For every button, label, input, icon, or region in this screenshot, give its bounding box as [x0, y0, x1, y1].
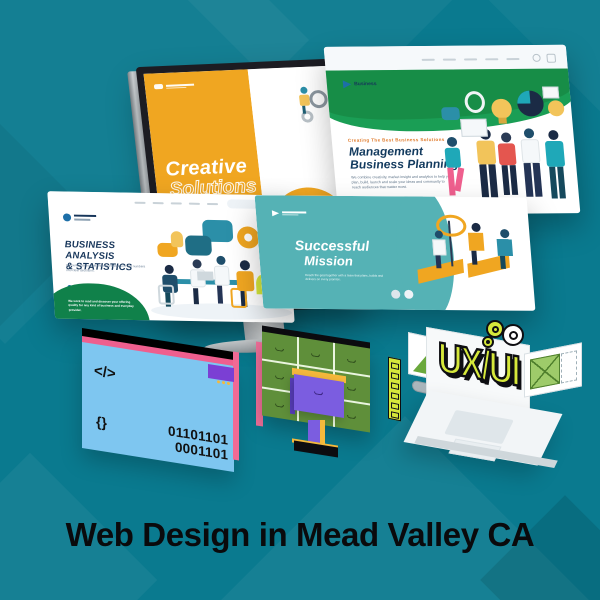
drawer-handle[interactable]	[275, 348, 284, 352]
mission-illustration	[406, 200, 535, 306]
code-editor-window-mockup: </> {} 01101101 0001101	[82, 352, 234, 460]
chat-bubble-icon	[441, 107, 460, 120]
filing-cabinet-mockup	[256, 334, 376, 464]
brand-logo-icon: Business	[343, 79, 396, 88]
drawer-handle[interactable]	[347, 359, 356, 363]
drawer-handle[interactable]	[347, 387, 356, 391]
mission-body: Reach the goal together with a team that…	[305, 273, 384, 282]
person-figure	[495, 229, 516, 269]
team-illustration	[433, 84, 577, 206]
mission-title-line1: Successful	[294, 237, 370, 254]
mbp-kicker: Creating The Best Business Solutions	[348, 137, 445, 143]
wireframe-card	[524, 342, 582, 397]
person-figure	[298, 87, 311, 113]
open-drawer[interactable]	[294, 374, 344, 418]
gear-icon	[308, 90, 328, 109]
toolbar-palette[interactable]	[388, 357, 401, 422]
badge-icon	[547, 100, 565, 116]
menu-icon[interactable]	[546, 54, 556, 63]
chat-bubble-icon	[185, 235, 212, 255]
drawer-handle[interactable]	[275, 404, 284, 408]
drawer-handle[interactable]	[347, 415, 356, 419]
bulb-icon	[491, 99, 513, 125]
brand-logo-label: Business	[354, 81, 377, 87]
poster-canvas: Creative Solutions Digital Business Cons…	[0, 0, 600, 600]
chair-icon	[158, 285, 175, 305]
gear-icon	[482, 336, 494, 348]
bas-blob-text: We work to read and discover your offeri…	[68, 299, 135, 313]
brand-logo-icon	[63, 213, 102, 222]
person-figure	[188, 259, 209, 305]
bulb-icon	[170, 231, 183, 247]
drawer-handle[interactable]	[311, 353, 320, 357]
window-control-dots[interactable]	[215, 370, 230, 390]
cabinet-foot	[294, 441, 338, 458]
drawer-handle[interactable]	[314, 391, 323, 395]
person-figure	[430, 230, 449, 268]
laptop-icon	[197, 271, 214, 280]
successful-mission-mockup: Successful Mission Reach the goal togeth…	[255, 195, 536, 311]
code-brace-icon: {}	[96, 413, 107, 431]
mission-pagination-dots[interactable]	[391, 286, 415, 304]
chart-icon	[460, 119, 488, 137]
layout-placeholder-icon	[561, 350, 577, 383]
pie-chart-slice	[516, 91, 530, 104]
gear-inner	[244, 233, 253, 241]
image-placeholder-icon	[530, 354, 560, 390]
mission-title-line2: Mission	[303, 253, 353, 268]
chair-icon	[230, 288, 247, 308]
brand-logo-icon	[154, 82, 197, 91]
code-tag-icon: </>	[94, 362, 116, 382]
page-title: Web Design in Mead Valley CA	[0, 516, 600, 554]
management-business-planning-mockup: Business Creating The Best Business Solu…	[324, 45, 581, 216]
stopwatch-icon	[464, 91, 486, 113]
mbp-body: We combine creativity, market insight an…	[351, 175, 453, 191]
drawer-handle[interactable]	[275, 376, 284, 380]
bas-body: We build dashboards and reports that tur…	[66, 263, 147, 274]
uxui-laptop-mockup: UX/UI	[382, 318, 582, 478]
brand-logo-icon	[272, 209, 313, 217]
gear-icon	[502, 324, 524, 346]
person-figure	[466, 223, 487, 265]
search-icon[interactable]	[532, 54, 541, 62]
calendar-icon	[542, 86, 559, 98]
